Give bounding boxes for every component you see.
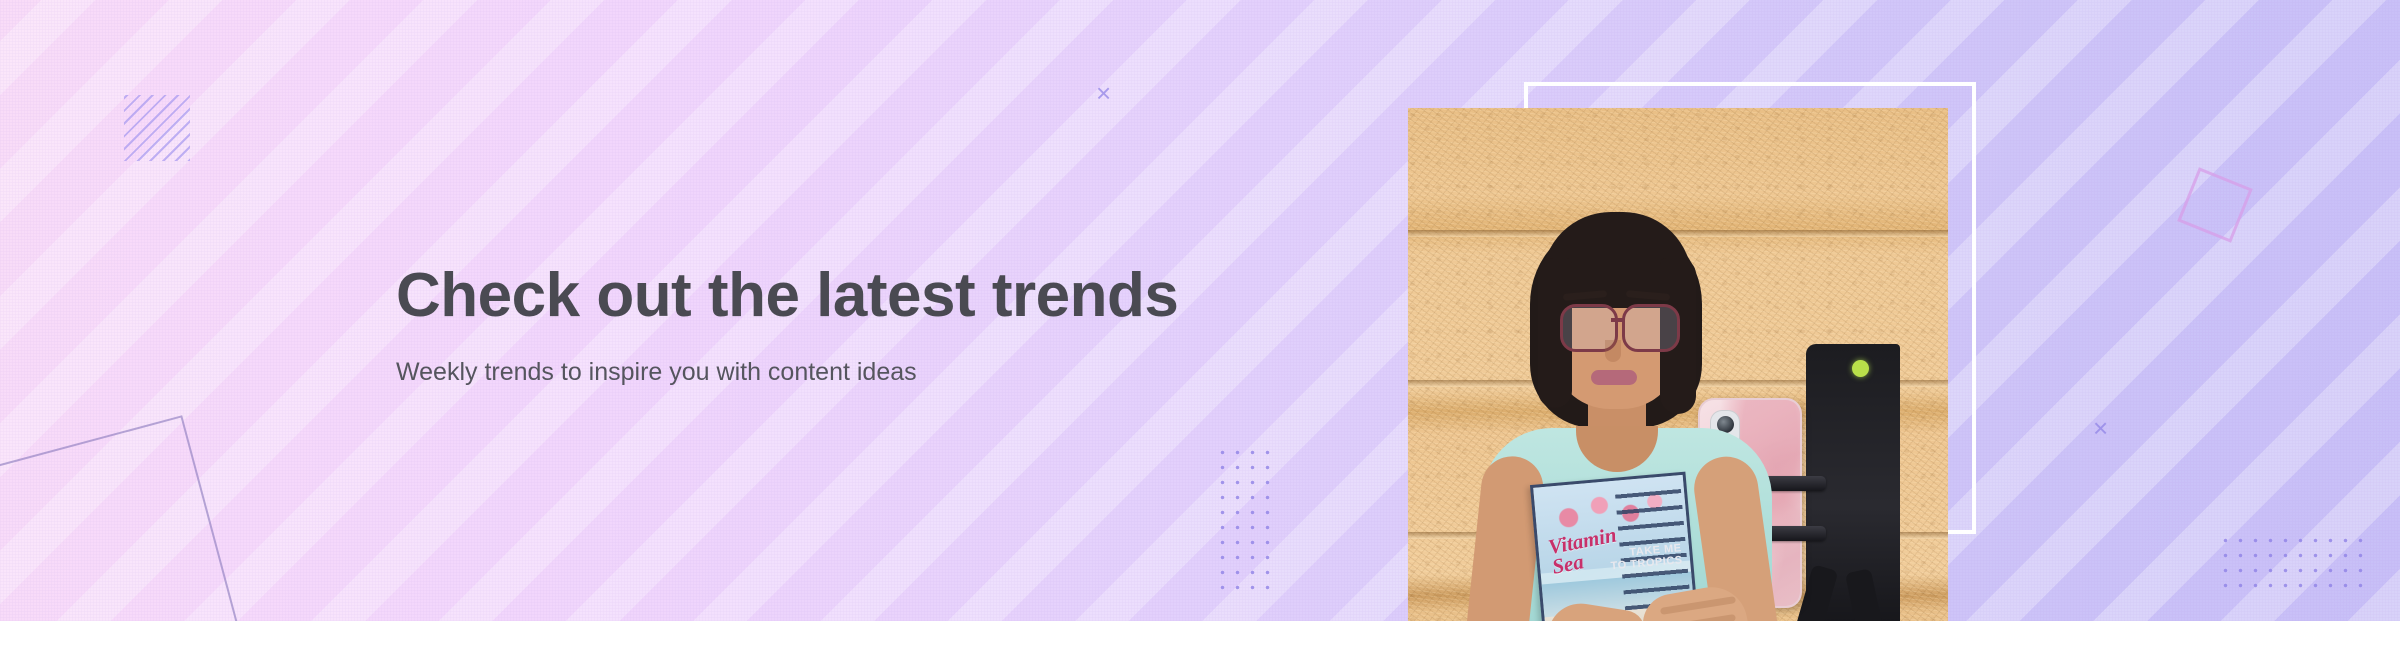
page-subtitle: Weekly trends to inspire you with conten… bbox=[396, 356, 1256, 389]
page-title: Check out the latest trends bbox=[396, 262, 1256, 330]
bottom-white-strip bbox=[0, 621, 2400, 650]
glasses-bridge bbox=[1611, 318, 1624, 322]
tripod-indicator-light bbox=[1852, 360, 1869, 377]
person-nose bbox=[1605, 340, 1621, 362]
trends-banner: × × Check out the latest trends Weekly t… bbox=[0, 0, 2400, 650]
hero-photo: Vitamin Sea TAKE ME TO TROPICS all bbox=[1408, 108, 1948, 650]
glasses-lens-right bbox=[1622, 304, 1680, 352]
person-lips bbox=[1591, 370, 1637, 385]
banner-background: × × Check out the latest trends Weekly t… bbox=[0, 0, 2400, 621]
wall-seam bbox=[1408, 230, 1948, 237]
banner-copy: Check out the latest trends Weekly trend… bbox=[396, 262, 1256, 389]
